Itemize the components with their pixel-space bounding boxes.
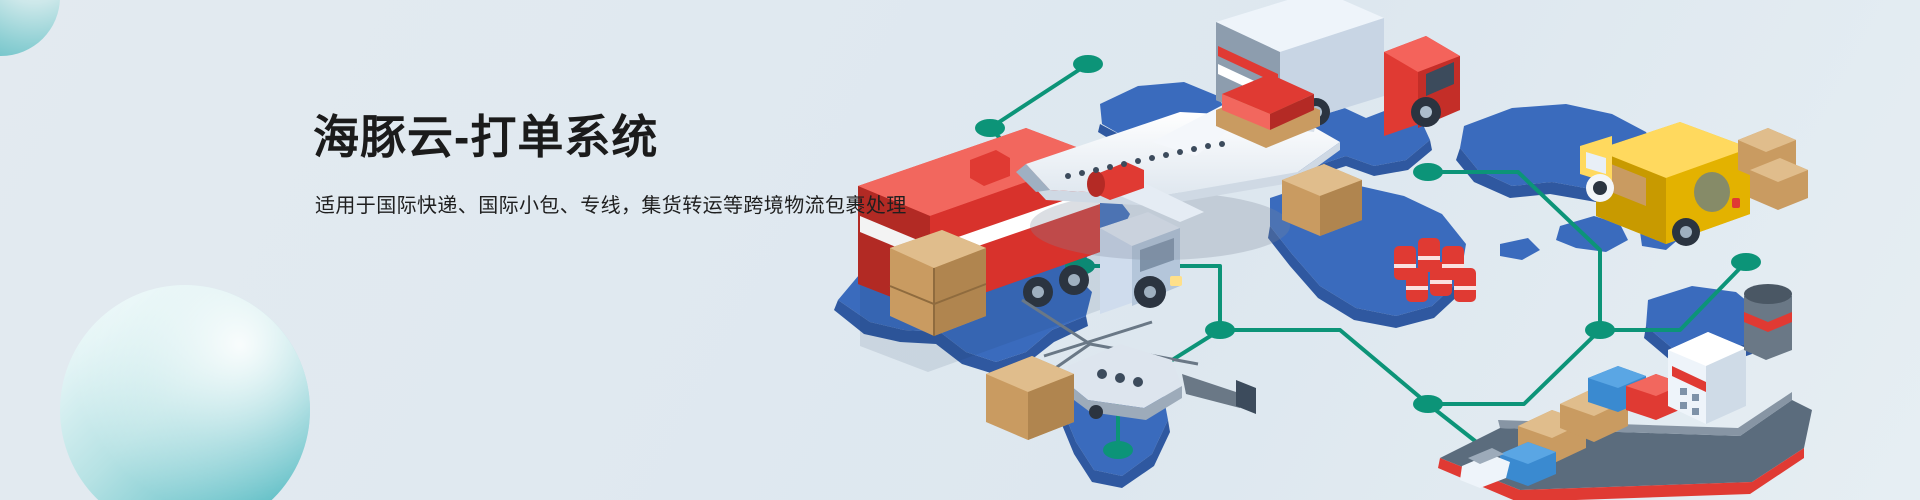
container-ship-icon	[1438, 284, 1812, 500]
page-subtitle: 适用于国际快递、国际小包、专线，集货转运等跨境物流包裹处理	[315, 191, 933, 221]
cargo-boxes-icon	[890, 230, 986, 336]
page-title: 海豚云-打单系统	[313, 104, 933, 170]
top-left-circle-decoration	[0, 0, 60, 56]
bottom-left-circle-decoration	[60, 285, 310, 500]
hero-copy: 海豚云-打单系统 适用于国际快递、国际小包、专线，集货转运等跨境物流包裹处理	[313, 104, 933, 221]
logistics-illustration	[800, 0, 1920, 500]
hero-banner: 海豚云-打单系统 适用于国际快递、国际小包、专线，集货转运等跨境物流包裹处理	[0, 0, 1920, 500]
